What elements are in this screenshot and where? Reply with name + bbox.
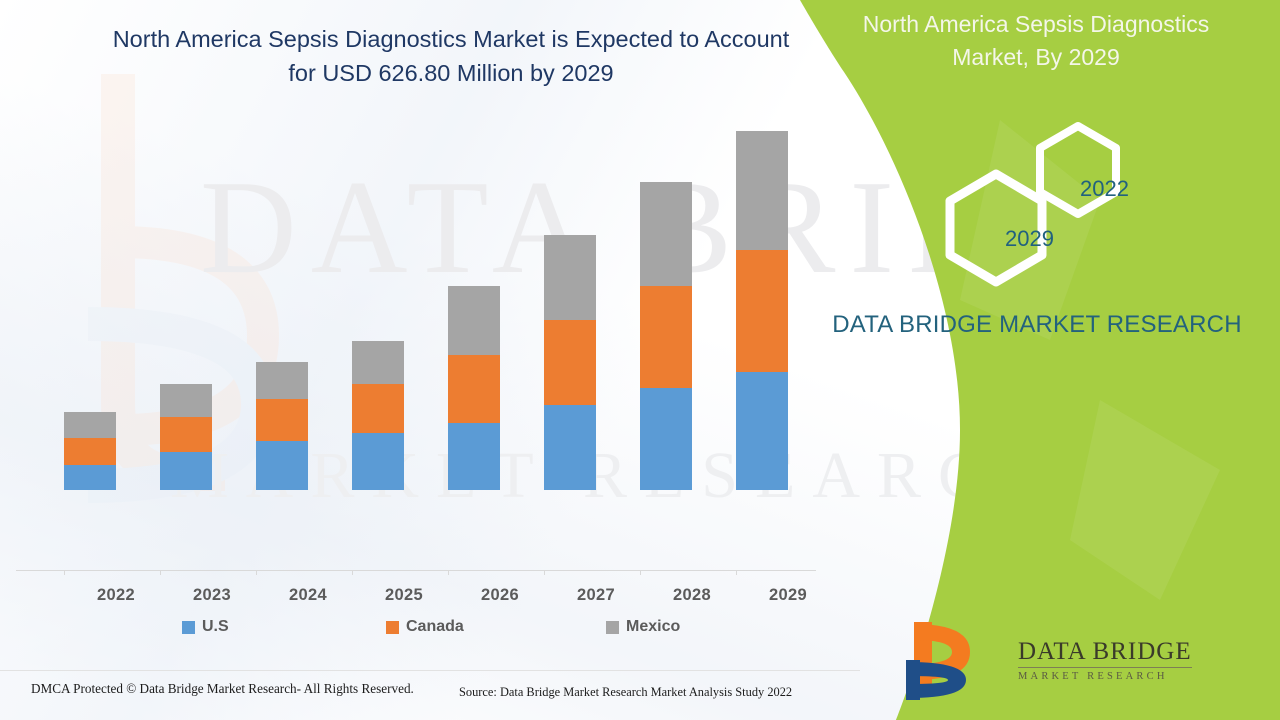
x-axis-tick xyxy=(256,570,257,575)
bar-segment-us[interactable] xyxy=(160,452,212,490)
bar-stack xyxy=(448,286,500,490)
bar-stack xyxy=(352,341,404,490)
dmca-notice: DMCA Protected © Data Bridge Market Rese… xyxy=(31,681,414,697)
x-axis-tick xyxy=(352,570,353,575)
bar-segment-mexico[interactable] xyxy=(448,286,500,355)
bar-segment-us[interactable] xyxy=(544,405,596,490)
data-bridge-logo-icon xyxy=(800,0,1280,720)
bar-segment-canada[interactable] xyxy=(64,438,116,465)
brand-panel: North America Sepsis Diagnostics Market,… xyxy=(800,0,1280,720)
x-axis-tick xyxy=(448,570,449,575)
footer-divider xyxy=(0,670,860,671)
bar-stack xyxy=(256,362,308,490)
bar-segment-us[interactable] xyxy=(64,465,116,490)
x-axis-tick xyxy=(544,570,545,575)
bar-segment-us[interactable] xyxy=(352,433,404,490)
bar-segment-mexico[interactable] xyxy=(64,412,116,438)
x-axis-label: 2022 xyxy=(71,586,161,605)
bar-segment-us[interactable] xyxy=(256,441,308,490)
bar-segment-mexico[interactable] xyxy=(736,131,788,250)
bar-stack xyxy=(544,235,596,490)
bar-segment-canada[interactable] xyxy=(448,355,500,423)
chart-plot-area: 2022 2023 2024 xyxy=(0,0,860,640)
bar-stack xyxy=(160,384,212,490)
x-axis-line xyxy=(16,570,816,571)
legend-item-mexico[interactable]: Mexico xyxy=(606,618,680,636)
x-axis-tick xyxy=(640,570,641,575)
x-axis-label: 2025 xyxy=(359,586,449,605)
bar-segment-canada[interactable] xyxy=(640,286,692,388)
logo-name-bottom: MARKET RESEARCH xyxy=(1018,671,1248,682)
legend-swatch-icon xyxy=(182,621,195,634)
bar-segment-mexico[interactable] xyxy=(160,384,212,417)
legend-item-canada[interactable]: Canada xyxy=(386,618,464,636)
bar-segment-mexico[interactable] xyxy=(352,341,404,384)
legend-item-us[interactable]: U.S xyxy=(182,618,229,636)
source-note: Source: Data Bridge Market Research Mark… xyxy=(459,685,792,700)
x-axis-tick xyxy=(160,570,161,575)
logo-text-block: DATA BRIDGE MARKET RESEARCH xyxy=(1018,638,1248,682)
x-axis-label: 2024 xyxy=(263,586,353,605)
bar-segment-us[interactable] xyxy=(736,372,788,490)
bar-stack xyxy=(64,412,116,490)
bar-segment-canada[interactable] xyxy=(352,384,404,433)
bar-segment-us[interactable] xyxy=(640,388,692,490)
legend-swatch-icon xyxy=(386,621,399,634)
bar-segment-mexico[interactable] xyxy=(640,182,692,286)
chart-legend: U.S Canada Mexico xyxy=(182,618,712,640)
bar-segment-canada[interactable] xyxy=(544,320,596,405)
legend-swatch-icon xyxy=(606,621,619,634)
bar-segment-us[interactable] xyxy=(448,423,500,490)
x-axis-label: 2028 xyxy=(647,586,737,605)
x-axis-tick xyxy=(736,570,737,575)
logo-name-top: DATA BRIDGE xyxy=(1018,638,1192,668)
x-axis-label: 2027 xyxy=(551,586,641,605)
x-axis-tick xyxy=(64,570,65,575)
bar-segment-mexico[interactable] xyxy=(544,235,596,320)
bar-stack xyxy=(640,182,692,490)
panel-logo: DATA BRIDGE MARKET RESEARCH xyxy=(800,0,1280,720)
legend-item-label: U.S xyxy=(202,618,229,636)
legend-item-label: Canada xyxy=(406,618,464,636)
bar-stack xyxy=(736,131,788,490)
bar-segment-mexico[interactable] xyxy=(256,362,308,399)
bar-segment-canada[interactable] xyxy=(160,417,212,452)
bar-segment-canada[interactable] xyxy=(256,399,308,441)
x-axis-label: 2026 xyxy=(455,586,545,605)
legend-item-label: Mexico xyxy=(626,618,680,636)
bar-segment-canada[interactable] xyxy=(736,250,788,372)
infographic-canvas: DATA BRIDGE MARKET RESEARCH North Americ… xyxy=(0,0,1280,720)
x-axis-label: 2023 xyxy=(167,586,257,605)
